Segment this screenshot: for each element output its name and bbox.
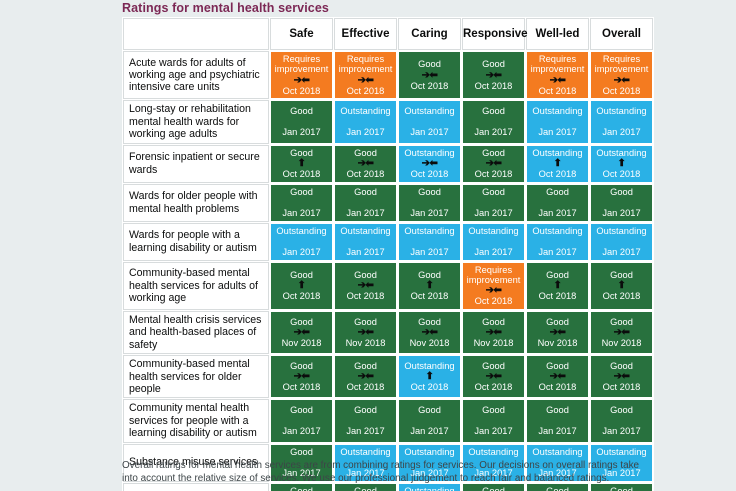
rating-cell[interactable]: Good➔⬅Oct 2018 <box>526 355 589 398</box>
rating-cell[interactable]: Outstanding Jan 2017 <box>398 100 461 143</box>
arrow-none-icon <box>464 236 523 247</box>
arrow-no-change-icon: ➔⬅ <box>464 371 523 382</box>
rating-cell[interactable]: Good➔⬅Oct 2018 <box>462 51 525 99</box>
rating-label: Good <box>400 317 459 327</box>
table-row: Wards for older people with mental healt… <box>123 184 653 222</box>
rating-cell[interactable]: Good Jan 2017 <box>462 184 525 222</box>
rating-label: Requires improvement <box>592 54 651 75</box>
arrow-none-icon <box>336 197 395 208</box>
rating-date: Oct 2018 <box>592 291 651 302</box>
rating-date: Jan 2017 <box>272 127 331 138</box>
rating-label: Good <box>464 148 523 158</box>
arrow-none-icon <box>272 236 331 247</box>
rating-label: Outstanding <box>592 148 651 158</box>
rating-label: Good <box>272 486 331 491</box>
rating-cell[interactable]: Good Jan 2017 <box>462 100 525 143</box>
rating-cell[interactable]: Good➔⬅Nov 2018 <box>526 311 589 354</box>
rating-date: Oct 2018 <box>592 86 651 97</box>
rating-date: Jan 2017 <box>464 247 523 258</box>
arrow-no-change-icon: ➔⬅ <box>272 327 331 338</box>
arrow-no-change-icon: ➔⬅ <box>528 75 587 86</box>
rating-date: Jan 2017 <box>400 127 459 138</box>
rating-cell[interactable]: Good Jan 2017 <box>398 399 461 442</box>
rating-date: Jan 2017 <box>272 426 331 437</box>
rating-date: Oct 2018 <box>400 382 459 393</box>
arrow-up-icon: ⬆ <box>400 280 459 291</box>
table-row: Community-based mental health services f… <box>123 262 653 310</box>
rating-date: Oct 2018 <box>464 81 523 92</box>
rating-date: Nov 2018 <box>336 338 395 349</box>
arrow-none-icon <box>464 415 523 426</box>
rating-label: Good <box>592 486 651 491</box>
rating-label: Good <box>464 59 523 69</box>
arrow-none-icon <box>400 236 459 247</box>
rating-date: Jan 2017 <box>400 208 459 219</box>
ratings-table-container: SafeEffectiveCaringResponsiveWell-ledOve… <box>122 17 652 491</box>
rating-label: Outstanding <box>400 148 459 158</box>
rating-cell[interactable]: Requires improvement➔⬅Oct 2018 <box>334 51 397 99</box>
rating-cell[interactable]: Good⬆Oct 2018 <box>526 262 589 310</box>
rating-label: Outstanding <box>464 226 523 236</box>
arrow-none-icon <box>336 116 395 127</box>
rating-label: Good <box>528 361 587 371</box>
column-header-well-led: Well-led <box>526 18 589 50</box>
rating-label: Good <box>336 405 395 415</box>
rating-cell[interactable]: Outstanding Jan 2017 <box>398 223 461 261</box>
rating-label: Good <box>400 270 459 280</box>
rating-cell[interactable]: Outstanding Jan 2017 <box>334 223 397 261</box>
rating-label: Outstanding <box>336 226 395 236</box>
rating-cell[interactable]: Good➔⬅Nov 2018 <box>398 311 461 354</box>
arrow-no-change-icon: ➔⬅ <box>272 371 331 382</box>
rating-date: Jan 2017 <box>400 247 459 258</box>
rating-date: Nov 2018 <box>528 338 587 349</box>
rating-cell[interactable]: Outstanding➔⬅Oct 2018 <box>398 145 461 183</box>
rating-label: Outstanding <box>592 226 651 236</box>
row-label: Community-based mental health services f… <box>123 262 269 310</box>
rating-date: Oct 2018 <box>528 291 587 302</box>
rating-cell[interactable]: Outstanding Jan 2017 <box>526 100 589 143</box>
rating-label: Good <box>464 405 523 415</box>
rating-date: Jan 2017 <box>272 247 331 258</box>
arrow-none-icon <box>400 415 459 426</box>
rating-label: Good <box>336 148 395 158</box>
rating-cell[interactable]: Good Jan 2017 <box>398 184 461 222</box>
rating-cell[interactable]: Good➔⬅Oct 2018 <box>398 51 461 99</box>
rating-cell[interactable]: Requires improvement➔⬅Oct 2018 <box>270 51 333 99</box>
rating-date: Jan 2017 <box>272 208 331 219</box>
footer-note: Overall ratings for mental health servic… <box>122 459 652 485</box>
rating-label: Outstanding <box>528 148 587 158</box>
arrow-no-change-icon: ➔⬅ <box>336 371 395 382</box>
rating-date: Jan 2017 <box>528 247 587 258</box>
rating-label: Outstanding <box>336 106 395 116</box>
rating-cell[interactable]: Good➔⬅Oct 2018 <box>462 145 525 183</box>
arrow-none-icon <box>592 236 651 247</box>
rating-label: Outstanding <box>272 226 331 236</box>
arrow-no-change-icon: ➔⬅ <box>528 327 587 338</box>
arrow-no-change-icon: ➔⬅ <box>592 75 651 86</box>
rating-label: Requires improvement <box>464 265 523 286</box>
rating-label: Outstanding <box>400 447 459 457</box>
arrow-none-icon <box>592 197 651 208</box>
rating-cell[interactable]: Outstanding⬆Oct 2018 <box>590 145 653 183</box>
table-row: Community-based mental health services f… <box>123 355 653 398</box>
table-row: Community mental health services for peo… <box>123 399 653 442</box>
rating-cell[interactable]: Good Jan 2017 <box>334 399 397 442</box>
rating-cell[interactable]: Good➔⬅Nov 2018 <box>462 311 525 354</box>
rating-cell[interactable]: Outstanding⬆Oct 2018 <box>526 145 589 183</box>
rating-cell[interactable]: Outstanding⬆Oct 2018 <box>398 355 461 398</box>
table-corner-cell <box>123 18 269 50</box>
rating-date: Jan 2017 <box>592 127 651 138</box>
arrow-none-icon <box>528 236 587 247</box>
arrow-none-icon <box>400 197 459 208</box>
rating-date: Nov 2018 <box>592 338 651 349</box>
rating-cell[interactable]: Requires improvement➔⬅Oct 2018 <box>590 51 653 99</box>
arrow-no-change-icon: ➔⬅ <box>272 75 331 86</box>
arrow-none-icon <box>464 197 523 208</box>
rating-date: Jan 2017 <box>592 426 651 437</box>
rating-cell[interactable]: Good⬆Oct 2018 <box>590 262 653 310</box>
rating-label: Good <box>400 59 459 69</box>
arrow-none-icon <box>464 116 523 127</box>
arrow-none-icon <box>272 116 331 127</box>
rating-cell[interactable]: Good➔⬅Oct 2018 <box>270 355 333 398</box>
rating-date: Oct 2018 <box>592 382 651 393</box>
rating-date: Jan 2017 <box>592 208 651 219</box>
row-label: Wards for older people with mental healt… <box>123 184 269 222</box>
rating-date: Jan 2017 <box>464 127 523 138</box>
rating-cell[interactable]: Good➔⬅Oct 2018 <box>590 355 653 398</box>
rating-date: Jan 2017 <box>528 208 587 219</box>
rating-cell[interactable]: Good Jan 2017 <box>270 399 333 442</box>
rating-label: Good <box>528 405 587 415</box>
rating-label: Good <box>400 187 459 197</box>
rating-cell[interactable]: Good➔⬅Nov 2018 <box>270 311 333 354</box>
rating-label: Requires improvement <box>272 54 331 75</box>
arrow-none-icon <box>528 197 587 208</box>
rating-label: Good <box>592 317 651 327</box>
rating-cell[interactable]: Good➔⬅Nov 2018 <box>334 311 397 354</box>
arrow-up-icon: ⬆ <box>592 280 651 291</box>
table-body: Acute wards for adults of working age an… <box>123 51 653 491</box>
rating-date: Oct 2018 <box>528 86 587 97</box>
rating-cell[interactable]: Outstanding Jan 2017 <box>526 223 589 261</box>
rating-date: Oct 2018 <box>400 291 459 302</box>
rating-date: Nov 2018 <box>272 338 331 349</box>
rating-date: Jan 2017 <box>336 127 395 138</box>
rating-label: Outstanding <box>528 226 587 236</box>
rating-date: Jan 2017 <box>336 426 395 437</box>
rating-date: Oct 2018 <box>336 169 395 180</box>
table-row: Wards for people with a learning disabil… <box>123 223 653 261</box>
rating-date: Oct 2018 <box>400 169 459 180</box>
column-header-caring: Caring <box>398 18 461 50</box>
table-row: Acute wards for adults of working age an… <box>123 51 653 99</box>
rating-label: Outstanding <box>400 106 459 116</box>
arrow-no-change-icon: ➔⬅ <box>464 327 523 338</box>
rating-label: Outstanding <box>528 106 587 116</box>
rating-label: Good <box>272 270 331 280</box>
column-header-responsive: Responsive <box>462 18 525 50</box>
arrow-no-change-icon: ➔⬅ <box>592 327 651 338</box>
arrow-no-change-icon: ➔⬅ <box>336 327 395 338</box>
row-label: Mental health crisis services and health… <box>123 311 269 354</box>
ratings-table: SafeEffectiveCaringResponsiveWell-ledOve… <box>122 17 654 491</box>
rating-date: Jan 2017 <box>400 426 459 437</box>
arrow-no-change-icon: ➔⬅ <box>464 285 523 296</box>
rating-cell[interactable]: Good Jan 2017 <box>590 399 653 442</box>
arrow-up-icon: ⬆ <box>400 371 459 382</box>
arrow-no-change-icon: ➔⬅ <box>528 371 587 382</box>
rating-label: Good <box>464 361 523 371</box>
rating-cell[interactable]: Good Jan 2017 <box>270 100 333 143</box>
rating-label: Good <box>400 405 459 415</box>
rating-date: Oct 2018 <box>272 291 331 302</box>
arrow-no-change-icon: ➔⬅ <box>400 158 459 169</box>
rating-date: Oct 2018 <box>336 382 395 393</box>
arrow-no-change-icon: ➔⬅ <box>336 158 395 169</box>
arrow-none-icon <box>400 116 459 127</box>
rating-cell[interactable]: Good➔⬅Oct 2018 <box>334 262 397 310</box>
column-header-overall: Overall <box>590 18 653 50</box>
rating-cell[interactable]: Outstanding Jan 2017 <box>334 100 397 143</box>
rating-date: Oct 2018 <box>464 382 523 393</box>
rating-cell[interactable]: Good Jan 2017 <box>270 184 333 222</box>
rating-cell[interactable]: Good⬆Oct 2018 <box>398 262 461 310</box>
rating-label: Good <box>528 317 587 327</box>
rating-label: Good <box>528 187 587 197</box>
rating-label: Good <box>272 405 331 415</box>
rating-label: Good <box>336 317 395 327</box>
rating-label: Good <box>336 187 395 197</box>
rating-date: Jan 2017 <box>336 208 395 219</box>
arrow-up-icon: ⬆ <box>272 280 331 291</box>
rating-cell[interactable]: Good Jan 2017 <box>334 184 397 222</box>
row-label: Long-stay or rehabilitation mental healt… <box>123 100 269 143</box>
rating-label: Outstanding <box>400 226 459 236</box>
rating-cell[interactable]: Requires improvement➔⬅Oct 2018 <box>526 51 589 99</box>
table-head: SafeEffectiveCaringResponsiveWell-ledOve… <box>123 18 653 50</box>
rating-date: Nov 2018 <box>464 338 523 349</box>
rating-label: Good <box>336 361 395 371</box>
arrow-none-icon <box>592 116 651 127</box>
arrow-up-icon: ⬆ <box>272 158 331 169</box>
table-row: Mental health crisis services and health… <box>123 311 653 354</box>
rating-label: Good <box>592 187 651 197</box>
rating-label: Good <box>464 486 523 491</box>
rating-date: Jan 2017 <box>336 247 395 258</box>
arrow-none-icon <box>336 236 395 247</box>
rating-date: Oct 2018 <box>528 382 587 393</box>
rating-label: Good <box>336 270 395 280</box>
rating-date: Oct 2018 <box>400 81 459 92</box>
rating-date: Jan 2017 <box>528 127 587 138</box>
rating-label: Good <box>592 405 651 415</box>
rating-cell[interactable]: Outstanding Jan 2017 <box>462 223 525 261</box>
rating-label: Outstanding <box>400 486 459 491</box>
rating-date: Jan 2017 <box>464 208 523 219</box>
rating-cell[interactable]: Good Jan 2017 <box>526 184 589 222</box>
arrow-up-icon: ⬆ <box>528 280 587 291</box>
arrow-no-change-icon: ➔⬅ <box>400 70 459 81</box>
rating-cell[interactable]: Outstanding Jan 2017 <box>590 223 653 261</box>
rating-label: Outstanding <box>592 106 651 116</box>
rating-label: Good <box>592 270 651 280</box>
arrow-none-icon <box>528 415 587 426</box>
rating-label: Good <box>336 486 395 491</box>
rating-label: Outstanding <box>464 447 523 457</box>
row-label: Community-based mental health services f… <box>123 355 269 398</box>
rating-label: Good <box>272 187 331 197</box>
rating-label: Outstanding <box>400 361 459 371</box>
rating-date: Oct 2018 <box>272 169 331 180</box>
arrow-no-change-icon: ➔⬅ <box>592 371 651 382</box>
rating-label: Good <box>464 317 523 327</box>
table-row: Long-stay or rehabilitation mental healt… <box>123 100 653 143</box>
rating-cell[interactable]: Good➔⬅Oct 2018 <box>334 355 397 398</box>
rating-label: Good <box>272 447 331 457</box>
column-header-safe: Safe <box>270 18 333 50</box>
rating-date: Oct 2018 <box>528 169 587 180</box>
rating-cell[interactable]: Good➔⬅Oct 2018 <box>334 145 397 183</box>
rating-label: Good <box>528 486 587 491</box>
arrow-no-change-icon: ➔⬅ <box>336 280 395 291</box>
rating-label: Good <box>272 148 331 158</box>
rating-date: Jan 2017 <box>464 426 523 437</box>
rating-date: Jan 2017 <box>528 426 587 437</box>
table-row: Forensic inpatient or secure wardsGood⬆O… <box>123 145 653 183</box>
arrow-none-icon <box>272 197 331 208</box>
rating-date: Oct 2018 <box>272 382 331 393</box>
rating-label: Requires improvement <box>528 54 587 75</box>
rating-label: Outstanding <box>336 447 395 457</box>
ratings-page: Ratings for mental health services SafeE… <box>0 0 736 491</box>
rating-cell[interactable]: Outstanding Jan 2017 <box>270 223 333 261</box>
arrow-none-icon <box>336 415 395 426</box>
rating-date: Oct 2018 <box>464 296 523 307</box>
rating-cell[interactable]: Good⬆Oct 2018 <box>270 262 333 310</box>
rating-label: Good <box>592 361 651 371</box>
rating-date: Oct 2018 <box>336 291 395 302</box>
arrow-none-icon <box>528 116 587 127</box>
arrow-no-change-icon: ➔⬅ <box>336 75 395 86</box>
rating-date: Oct 2018 <box>592 169 651 180</box>
arrow-no-change-icon: ➔⬅ <box>464 70 523 81</box>
table-header-row: SafeEffectiveCaringResponsiveWell-ledOve… <box>123 18 653 50</box>
rating-cell[interactable]: Good➔⬅Nov 2018 <box>590 311 653 354</box>
rating-cell[interactable]: Good Jan 2017 <box>590 184 653 222</box>
arrow-none-icon <box>272 415 331 426</box>
arrow-up-icon: ⬆ <box>592 158 651 169</box>
rating-date: Oct 2018 <box>272 86 331 97</box>
arrow-up-icon: ⬆ <box>528 158 587 169</box>
rating-label: Good <box>464 106 523 116</box>
rating-date: Jan 2017 <box>592 247 651 258</box>
rating-label: Good <box>272 361 331 371</box>
rating-cell[interactable]: Good Jan 2017 <box>462 399 525 442</box>
rating-date: Oct 2018 <box>336 86 395 97</box>
page-title: Ratings for mental health services <box>122 1 329 15</box>
rating-cell[interactable]: Outstanding Jan 2017 <box>590 100 653 143</box>
row-label: Community mental health services for peo… <box>123 399 269 442</box>
rating-label: Requires improvement <box>336 54 395 75</box>
rating-cell[interactable]: Requires improvement➔⬅Oct 2018 <box>462 262 525 310</box>
row-label: Acute wards for adults of working age an… <box>123 51 269 99</box>
rating-date: Nov 2018 <box>400 338 459 349</box>
rating-date: Oct 2018 <box>464 169 523 180</box>
rating-label: Good <box>272 317 331 327</box>
rating-label: Good <box>272 106 331 116</box>
rating-cell[interactable]: Good➔⬅Oct 2018 <box>462 355 525 398</box>
row-label: Wards for people with a learning disabil… <box>123 223 269 261</box>
row-label: Forensic inpatient or secure wards <box>123 145 269 183</box>
arrow-none-icon <box>592 415 651 426</box>
arrow-no-change-icon: ➔⬅ <box>400 327 459 338</box>
rating-label: Good <box>464 187 523 197</box>
rating-label: Good <box>528 270 587 280</box>
arrow-no-change-icon: ➔⬅ <box>464 158 523 169</box>
rating-cell[interactable]: Good Jan 2017 <box>526 399 589 442</box>
rating-label: Outstanding <box>592 447 651 457</box>
rating-cell[interactable]: Good⬆Oct 2018 <box>270 145 333 183</box>
rating-label: Outstanding <box>528 447 587 457</box>
column-header-effective: Effective <box>334 18 397 50</box>
